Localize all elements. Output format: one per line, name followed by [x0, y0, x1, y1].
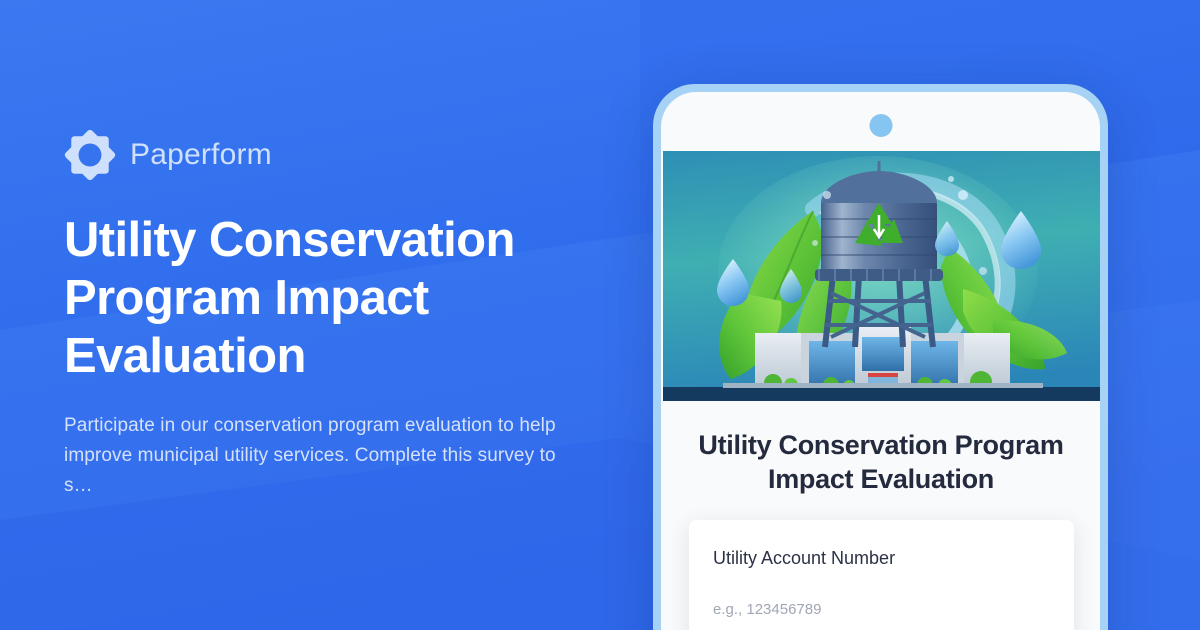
form-field-card: Utility Account Number e.g., 123456789 [689, 520, 1074, 630]
og-share-card: Paperform Utility Conservation Program I… [0, 0, 1200, 630]
field-label-utility-account-number: Utility Account Number [713, 546, 1050, 570]
left-content-panel: Paperform Utility Conservation Program I… [64, 0, 604, 630]
brand-name: Paperform [130, 140, 272, 170]
paperform-logo-icon [64, 129, 116, 181]
form-hero-illustration [663, 151, 1100, 401]
camera-dot-icon [869, 114, 892, 137]
brand-lockup: Paperform [64, 129, 604, 181]
utility-account-number-input[interactable]: e.g., 123456789 [713, 600, 1050, 630]
page-description: Participate in our conservation program … [64, 411, 579, 501]
form-title: Utility Conservation Program Impact Eval… [681, 428, 1081, 496]
page-title: Utility Conservation Program Impact Eval… [64, 211, 554, 385]
phone-mockup: Utility Conservation Program Impact Eval… [653, 84, 1108, 630]
phone-screen: Utility Conservation Program Impact Eval… [661, 92, 1100, 630]
